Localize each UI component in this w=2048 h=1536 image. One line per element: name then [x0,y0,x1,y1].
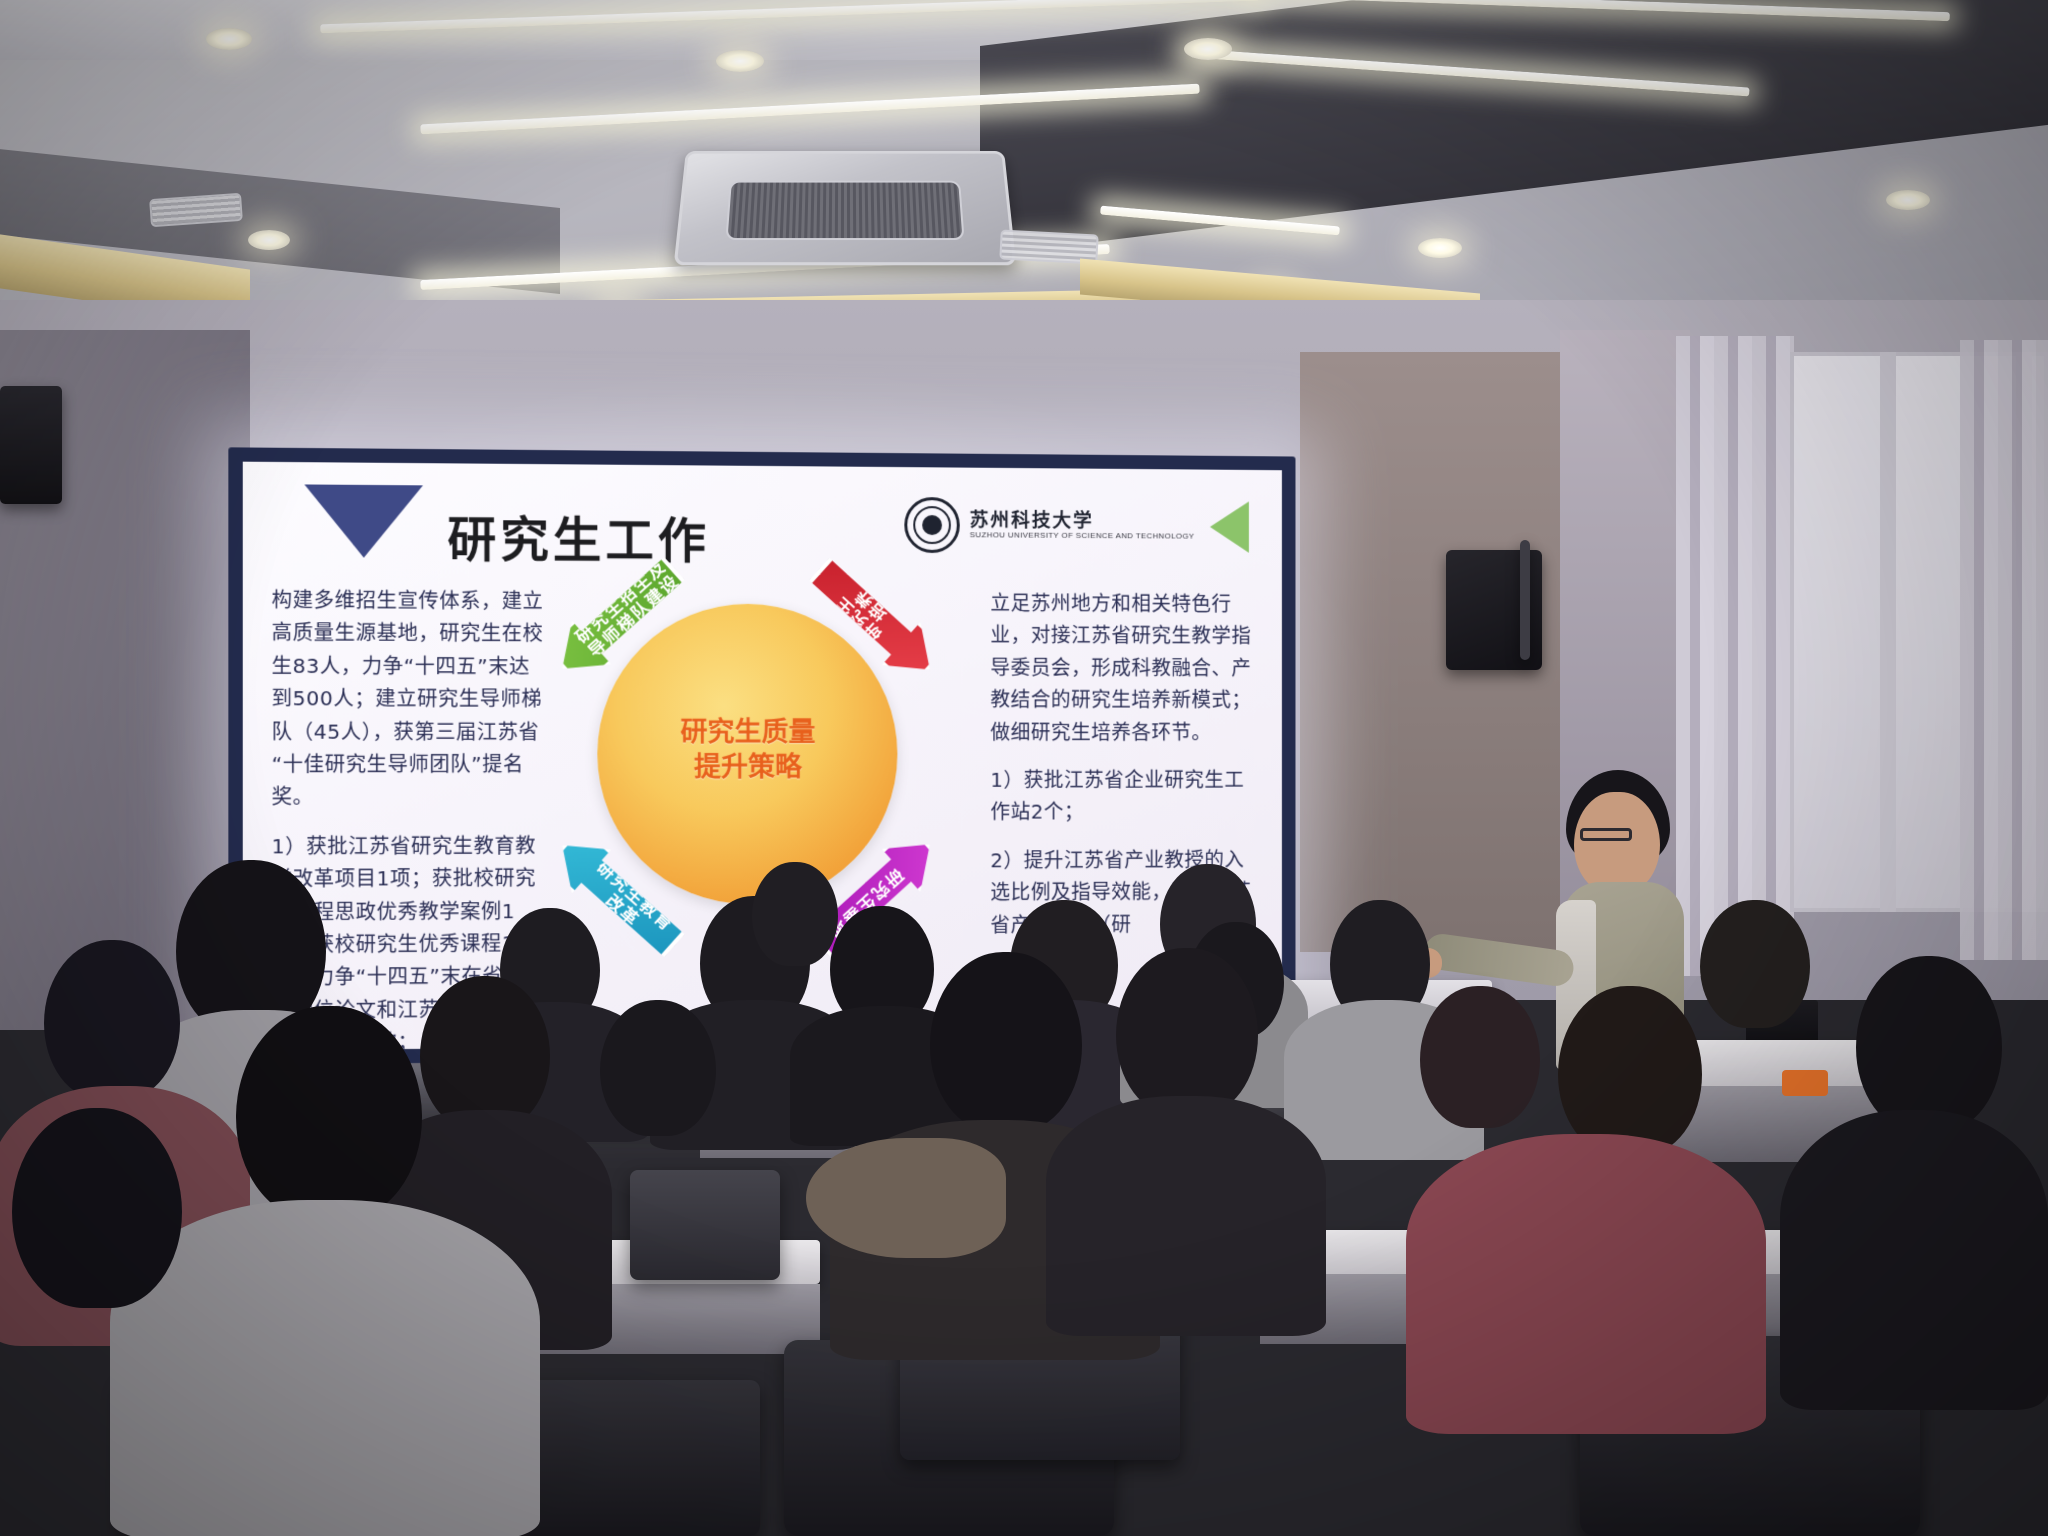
audience-head-7 [752,862,838,966]
wall-monitor-left [0,386,62,504]
ac-cassette-unit [674,151,1017,265]
audience-head-13 [1116,948,1258,1116]
down-triangle-icon [304,484,423,558]
logo-name-cn: 苏州科技大学 [970,511,1195,532]
downlight-3 [1184,38,1232,60]
downlight-1 [206,28,252,50]
diagram-center-line-1: 研究生质量 [597,716,897,751]
right-paragraph-2: 1）获批江苏省企业研究生工作站2个； [990,764,1254,828]
ac-grille [726,180,964,240]
downlight-4 [248,230,290,250]
conference-room-scene: 研究生工作 苏州科技大学 SUZHOU UNIVERSITY OF SCIENC… [0,0,2048,1536]
audience-head-16 [1420,986,1540,1128]
right-paragraph-1: 立足苏州地方和相关特色行业，对接江苏省研究生教学指导委员会，形成科教融合、产教结… [990,587,1254,748]
left-triangle-icon [1210,501,1249,553]
university-seal-icon [904,497,959,553]
audience-head-12 [930,952,1082,1132]
curtain-right [1960,340,2048,960]
audience-body-15 [1780,1110,2048,1410]
presenter-glasses [1580,828,1632,841]
logo-name-en: SUZHOU UNIVERSITY OF SCIENCE AND TECHNOL… [970,531,1195,541]
downlight-2 [716,50,764,72]
left-paragraph-1: 构建多维招生宣传体系，建立高质量生源基地，研究生在校生83人，力争“十四五”末达… [272,584,547,814]
logo-text: 苏州科技大学 SUZHOU UNIVERSITY OF SCIENCE AND … [970,511,1195,541]
audience-body-14 [1406,1134,1766,1434]
curtain-left [1676,336,1794,976]
audience-head-11 [420,976,550,1130]
audience-head-19 [236,1006,422,1220]
chair-5 [630,1170,780,1280]
audience-fur-collar [806,1138,1006,1258]
audience-head-14 [1558,986,1702,1156]
audience-head-15 [1856,956,2002,1132]
audience-head-17 [600,1000,716,1136]
university-logo: 苏州科技大学 SUZHOU UNIVERSITY OF SCIENCE AND … [904,497,1249,555]
audience-head-18 [1700,900,1810,1028]
audience-head-10 [44,940,180,1100]
audience-head-20 [12,1108,182,1308]
diagram-center-line-2: 提升策略 [597,751,897,786]
page-title: 研究生工作 [447,500,710,572]
audience-body-13 [1046,1096,1326,1336]
presenter-head [1574,792,1660,894]
orange-object [1782,1070,1828,1096]
diagram-center-label: 研究生质量 提升策略 [597,716,897,785]
wall-speaker-bracket [1520,540,1530,660]
downlight-9 [1886,190,1930,210]
window-mullion-1 [1880,352,1896,912]
downlight-5 [1418,238,1462,258]
